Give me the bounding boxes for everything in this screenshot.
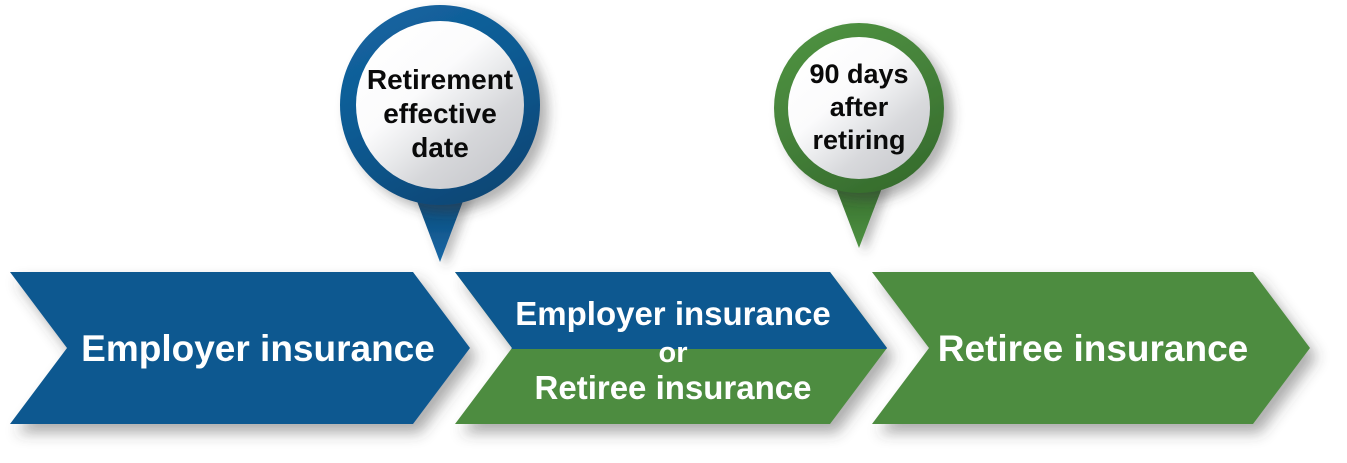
marker-green-label-line1: 90 days [809,59,908,89]
insurance-timeline-diagram: Employer insurance Employer insurance or… [0,0,1347,463]
marker-blue-label-line3: date [411,132,469,163]
segment-employer-label: Employer insurance [81,328,435,369]
segment-transition-label-line1: Employer insurance [515,295,830,332]
marker-retirement-effective-date[interactable]: Retirement effective date [340,5,540,262]
marker-green-label-line2: after [830,92,889,122]
marker-blue-label-line1: Retirement [367,64,513,95]
timeline-graphic: Employer insurance Employer insurance or… [0,0,1347,463]
segment-employer[interactable]: Employer insurance [10,272,470,424]
marker-90-days-after-retiring[interactable]: 90 days after retiring [774,23,944,248]
segment-retiree[interactable]: Retiree insurance [872,272,1310,424]
segment-transition-label-line3: Retiree insurance [535,369,812,406]
marker-blue-label-line2: effective [383,98,497,129]
segment-transition[interactable]: Employer insurance or Retiree insurance [440,262,910,424]
segment-retiree-label: Retiree insurance [938,328,1249,369]
segment-transition-label-line2: or [659,337,688,369]
marker-green-label-line3: retiring [812,125,905,155]
timeline-band: Employer insurance Employer insurance or… [10,262,1310,424]
